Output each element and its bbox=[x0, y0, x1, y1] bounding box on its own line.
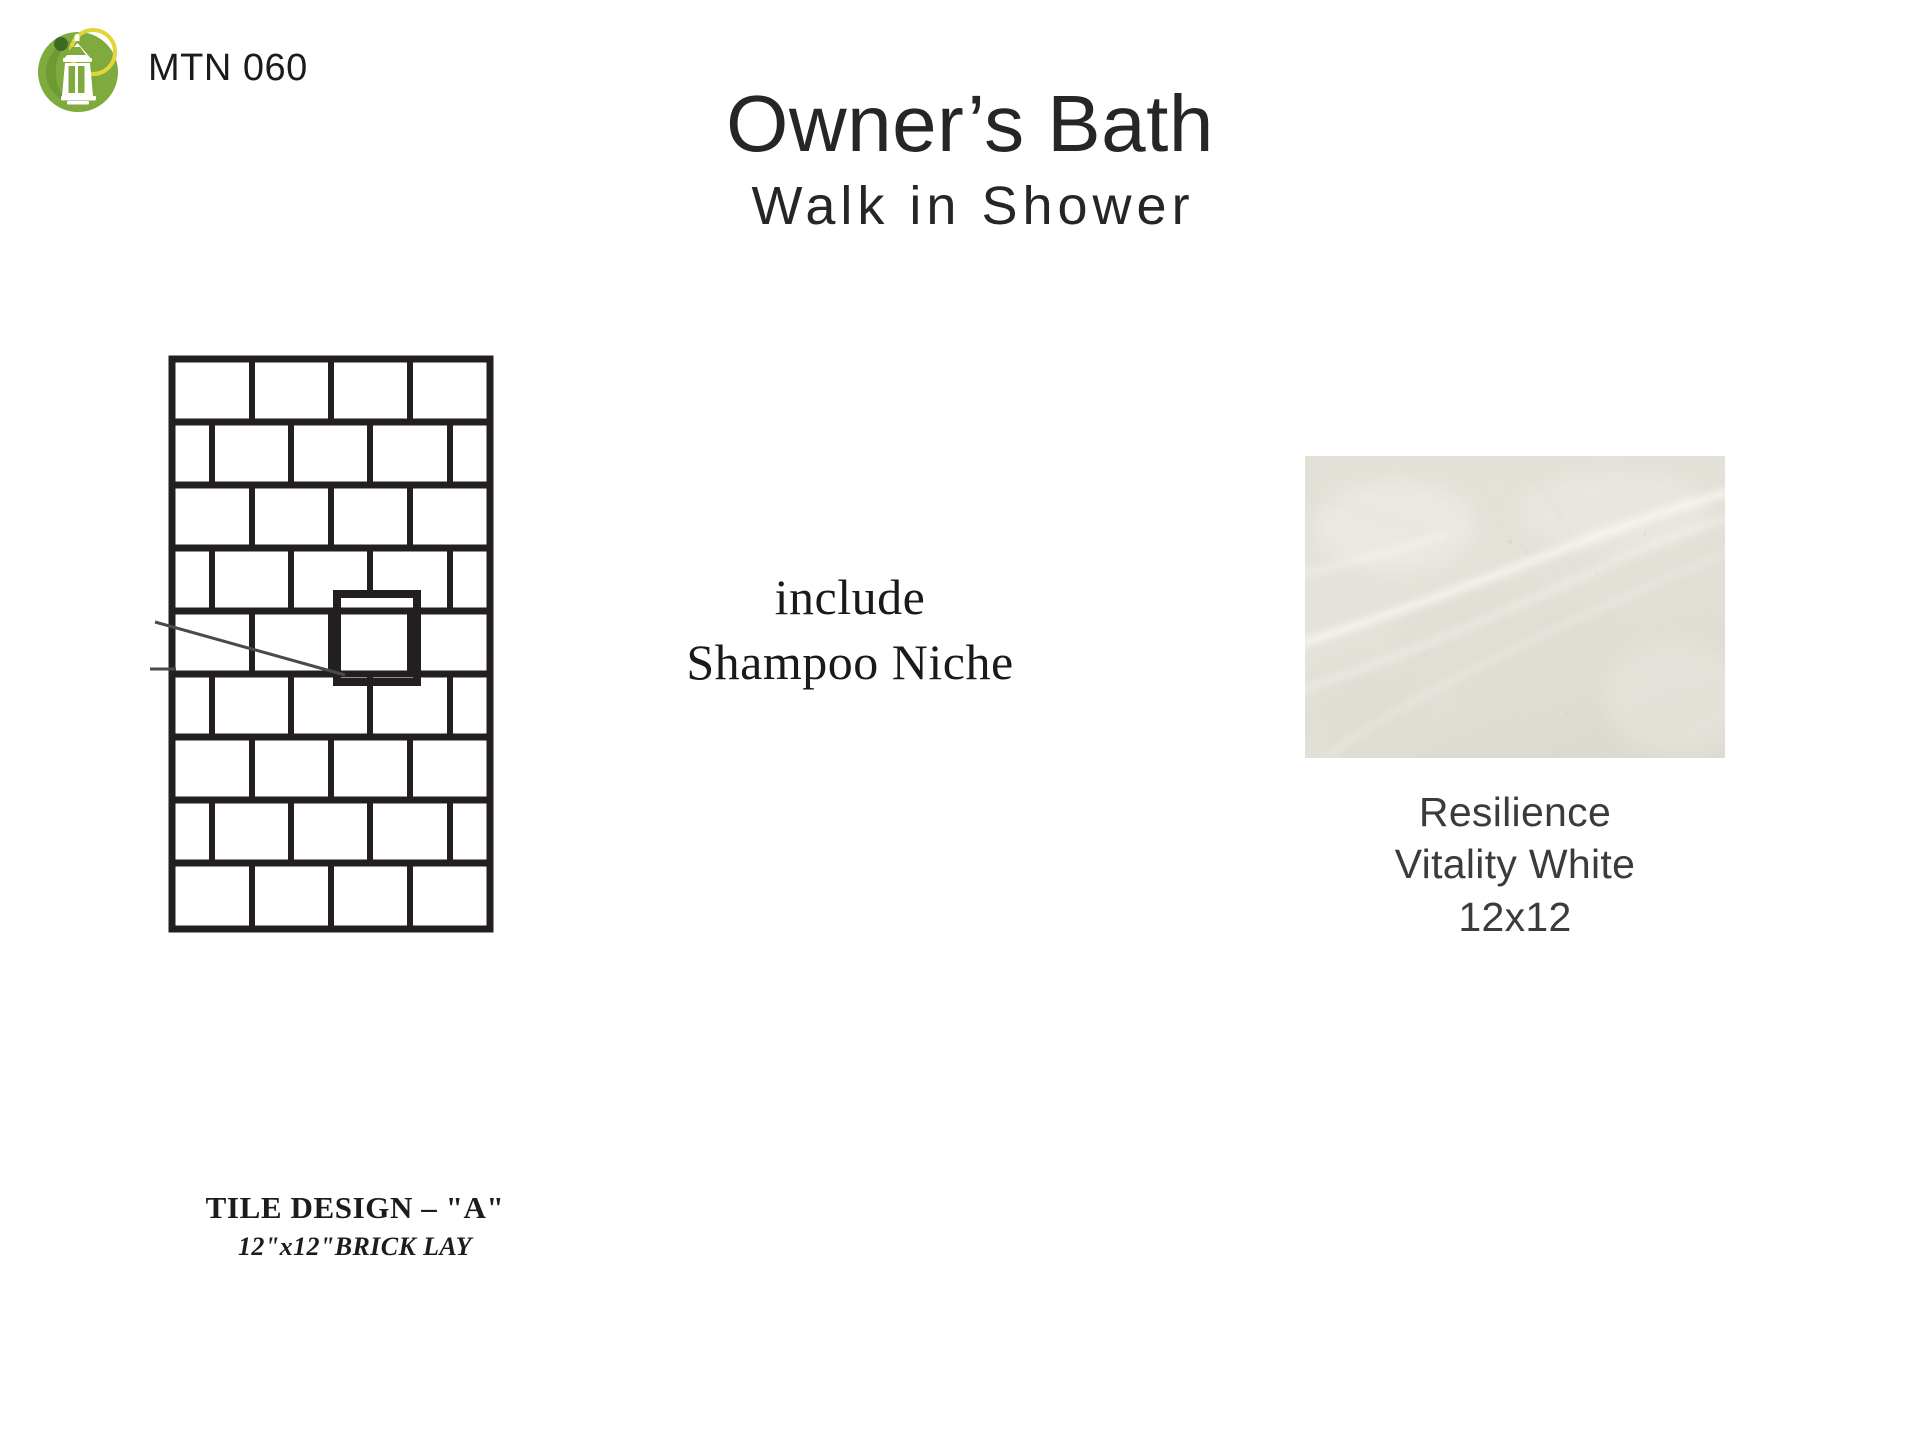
lantern-logo-icon bbox=[26, 16, 130, 120]
tile-swatch-block: Resilience Vitality White 12x12 bbox=[1305, 456, 1725, 943]
swatch-series-name: Resilience bbox=[1305, 786, 1725, 838]
note-line-2: Shampoo Niche bbox=[620, 630, 1080, 695]
swatch-color-name: Vitality White bbox=[1305, 838, 1725, 890]
shampoo-niche-box bbox=[337, 594, 417, 682]
note-line-1: include bbox=[620, 565, 1080, 630]
tile-layout-diagram bbox=[150, 345, 550, 965]
shampoo-niche-note: include Shampoo Niche bbox=[620, 565, 1080, 695]
tile-design-title: TILE DESIGN – "A" bbox=[130, 1190, 580, 1226]
tile-design-caption: TILE DESIGN – "A" 12"x12"BRICK LAY bbox=[130, 1190, 580, 1262]
page-subtitle: Walk in Shower bbox=[0, 178, 1910, 235]
tile-swatch-image bbox=[1305, 456, 1725, 758]
swatch-caption: Resilience Vitality White 12x12 bbox=[1305, 786, 1725, 943]
tile-design-subtitle: 12"x12"BRICK LAY bbox=[130, 1232, 580, 1262]
project-code-label: MTN 060 bbox=[148, 47, 308, 90]
swatch-size: 12x12 bbox=[1305, 891, 1725, 943]
brand-header: MTN 060 bbox=[26, 16, 308, 120]
